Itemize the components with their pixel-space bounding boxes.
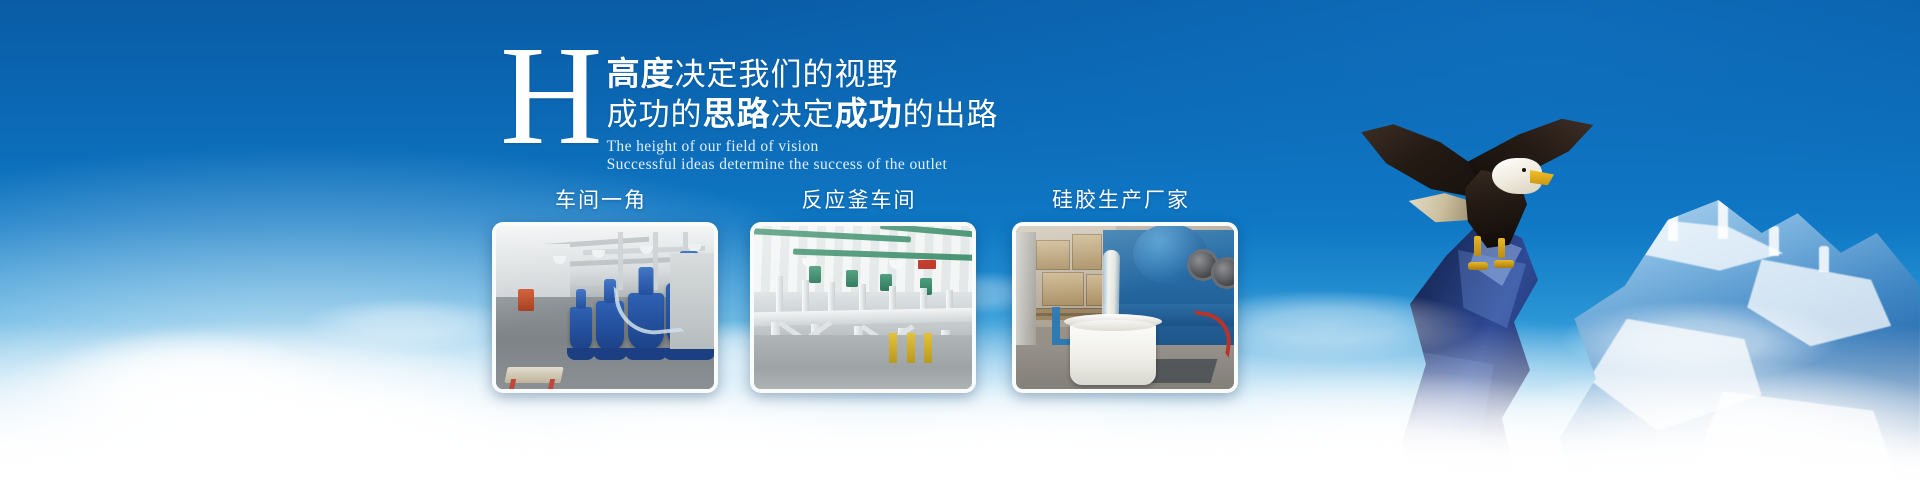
photo-frame[interactable] [1012,222,1238,393]
headline-english-line-1: The height of our field of vision [607,138,999,156]
eagle-talon [1468,262,1488,270]
bald-eagle-image [1364,118,1624,268]
mountain-spike [1668,207,1678,241]
rock-facet [1490,376,1550,466]
photo-drum [518,289,534,311]
reaction-kettle-workshop-photo [754,226,972,389]
photo-machine-wheel [1214,260,1234,286]
photo-reactor-motor [576,289,586,309]
photo-carton [1072,234,1102,270]
photo-card-reaction-kettle[interactable]: 反应釜车间 [750,188,968,393]
mountain-spike [1819,246,1829,272]
headline-english-line-2: Successful ideas determine the success o… [607,156,999,174]
cloud [170,390,590,500]
photo-white-bucket [1070,321,1156,385]
photo-carton [1036,240,1070,270]
headline-line-2: 成功的思路决定成功的出路 [607,94,999,134]
photo-motor [846,270,858,287]
photo-bucket-liquid [1072,320,1154,331]
headline-line-1-rest: 决定我们的视野 [675,57,899,92]
headline-line-1-emphasis: 高度 [607,55,675,92]
headline-english-block: The height of our field of vision Succes… [607,138,999,173]
photo-stool [504,367,563,383]
headline-line-2-pre: 成功的 [607,97,703,132]
photo-reactor-skirt [663,348,714,360]
photo-motor [809,266,821,283]
photo-caption: 反应釜车间 [750,188,968,214]
photo-carton [1042,272,1084,306]
mountain-spike [1718,193,1728,239]
eagle-leg [1474,236,1481,256]
photo-floor [754,335,972,389]
photo-bollard [889,333,897,363]
photo-frame[interactable] [492,222,718,393]
headline-block: H 高度决定我们的视野 成功的思路决定成功的出路 The height of o… [500,38,1140,173]
photo-red-marker [918,260,936,269]
cloud [300,298,520,350]
photo-card-workshop-corner[interactable]: 车间一角 [492,188,710,393]
photo-reactor-skirt [593,348,627,360]
eagle-leg [1498,238,1505,258]
reactor-workshop-photo [496,226,714,389]
cloud [0,320,560,500]
eagle-scene [1330,140,1750,500]
cloud [40,330,340,440]
eagle-talon [1494,260,1514,268]
eagle-eye [1522,168,1526,172]
hero-banner: H 高度决定我们的视野 成功的思路决定成功的出路 The height of o… [0,0,1920,500]
mountain-snow-facet [1690,391,1899,500]
photo-reactor [570,307,592,351]
photo-card-silicone-manufacturer[interactable]: 硅胶生产厂家 [1012,188,1230,393]
photo-machine-wheel [1190,252,1216,278]
photo-reactor-skirt [625,348,667,360]
headline-line-2-mid: 决定 [771,97,835,132]
cloud [760,380,1280,500]
photo-caption: 车间一角 [492,188,710,214]
headline-line-2-emphasis-1: 思路 [703,95,771,132]
photo-bollard [924,333,932,363]
photo-frame[interactable] [750,222,976,393]
rock-facet [1414,352,1494,454]
monogram-letter: H [500,34,601,156]
photo-reactor-skirt [567,348,595,360]
mountain-spike [1769,226,1779,256]
headline-line-1: 高度决定我们的视野 [607,54,999,94]
headline-line-2-post: 的出路 [903,97,999,132]
photo-pipe [618,232,623,290]
mountain-snow-facet [1747,259,1891,351]
photo-bollard [907,333,915,363]
photo-caption: 硅胶生产厂家 [1012,188,1230,214]
silicone-manufacturer-photo [1016,226,1234,389]
headline-lines: 高度决定我们的视野 成功的思路决定成功的出路 The height of our… [607,38,999,173]
headline-line-2-emphasis-2: 成功 [835,95,903,132]
eagle-legs [1472,236,1518,266]
